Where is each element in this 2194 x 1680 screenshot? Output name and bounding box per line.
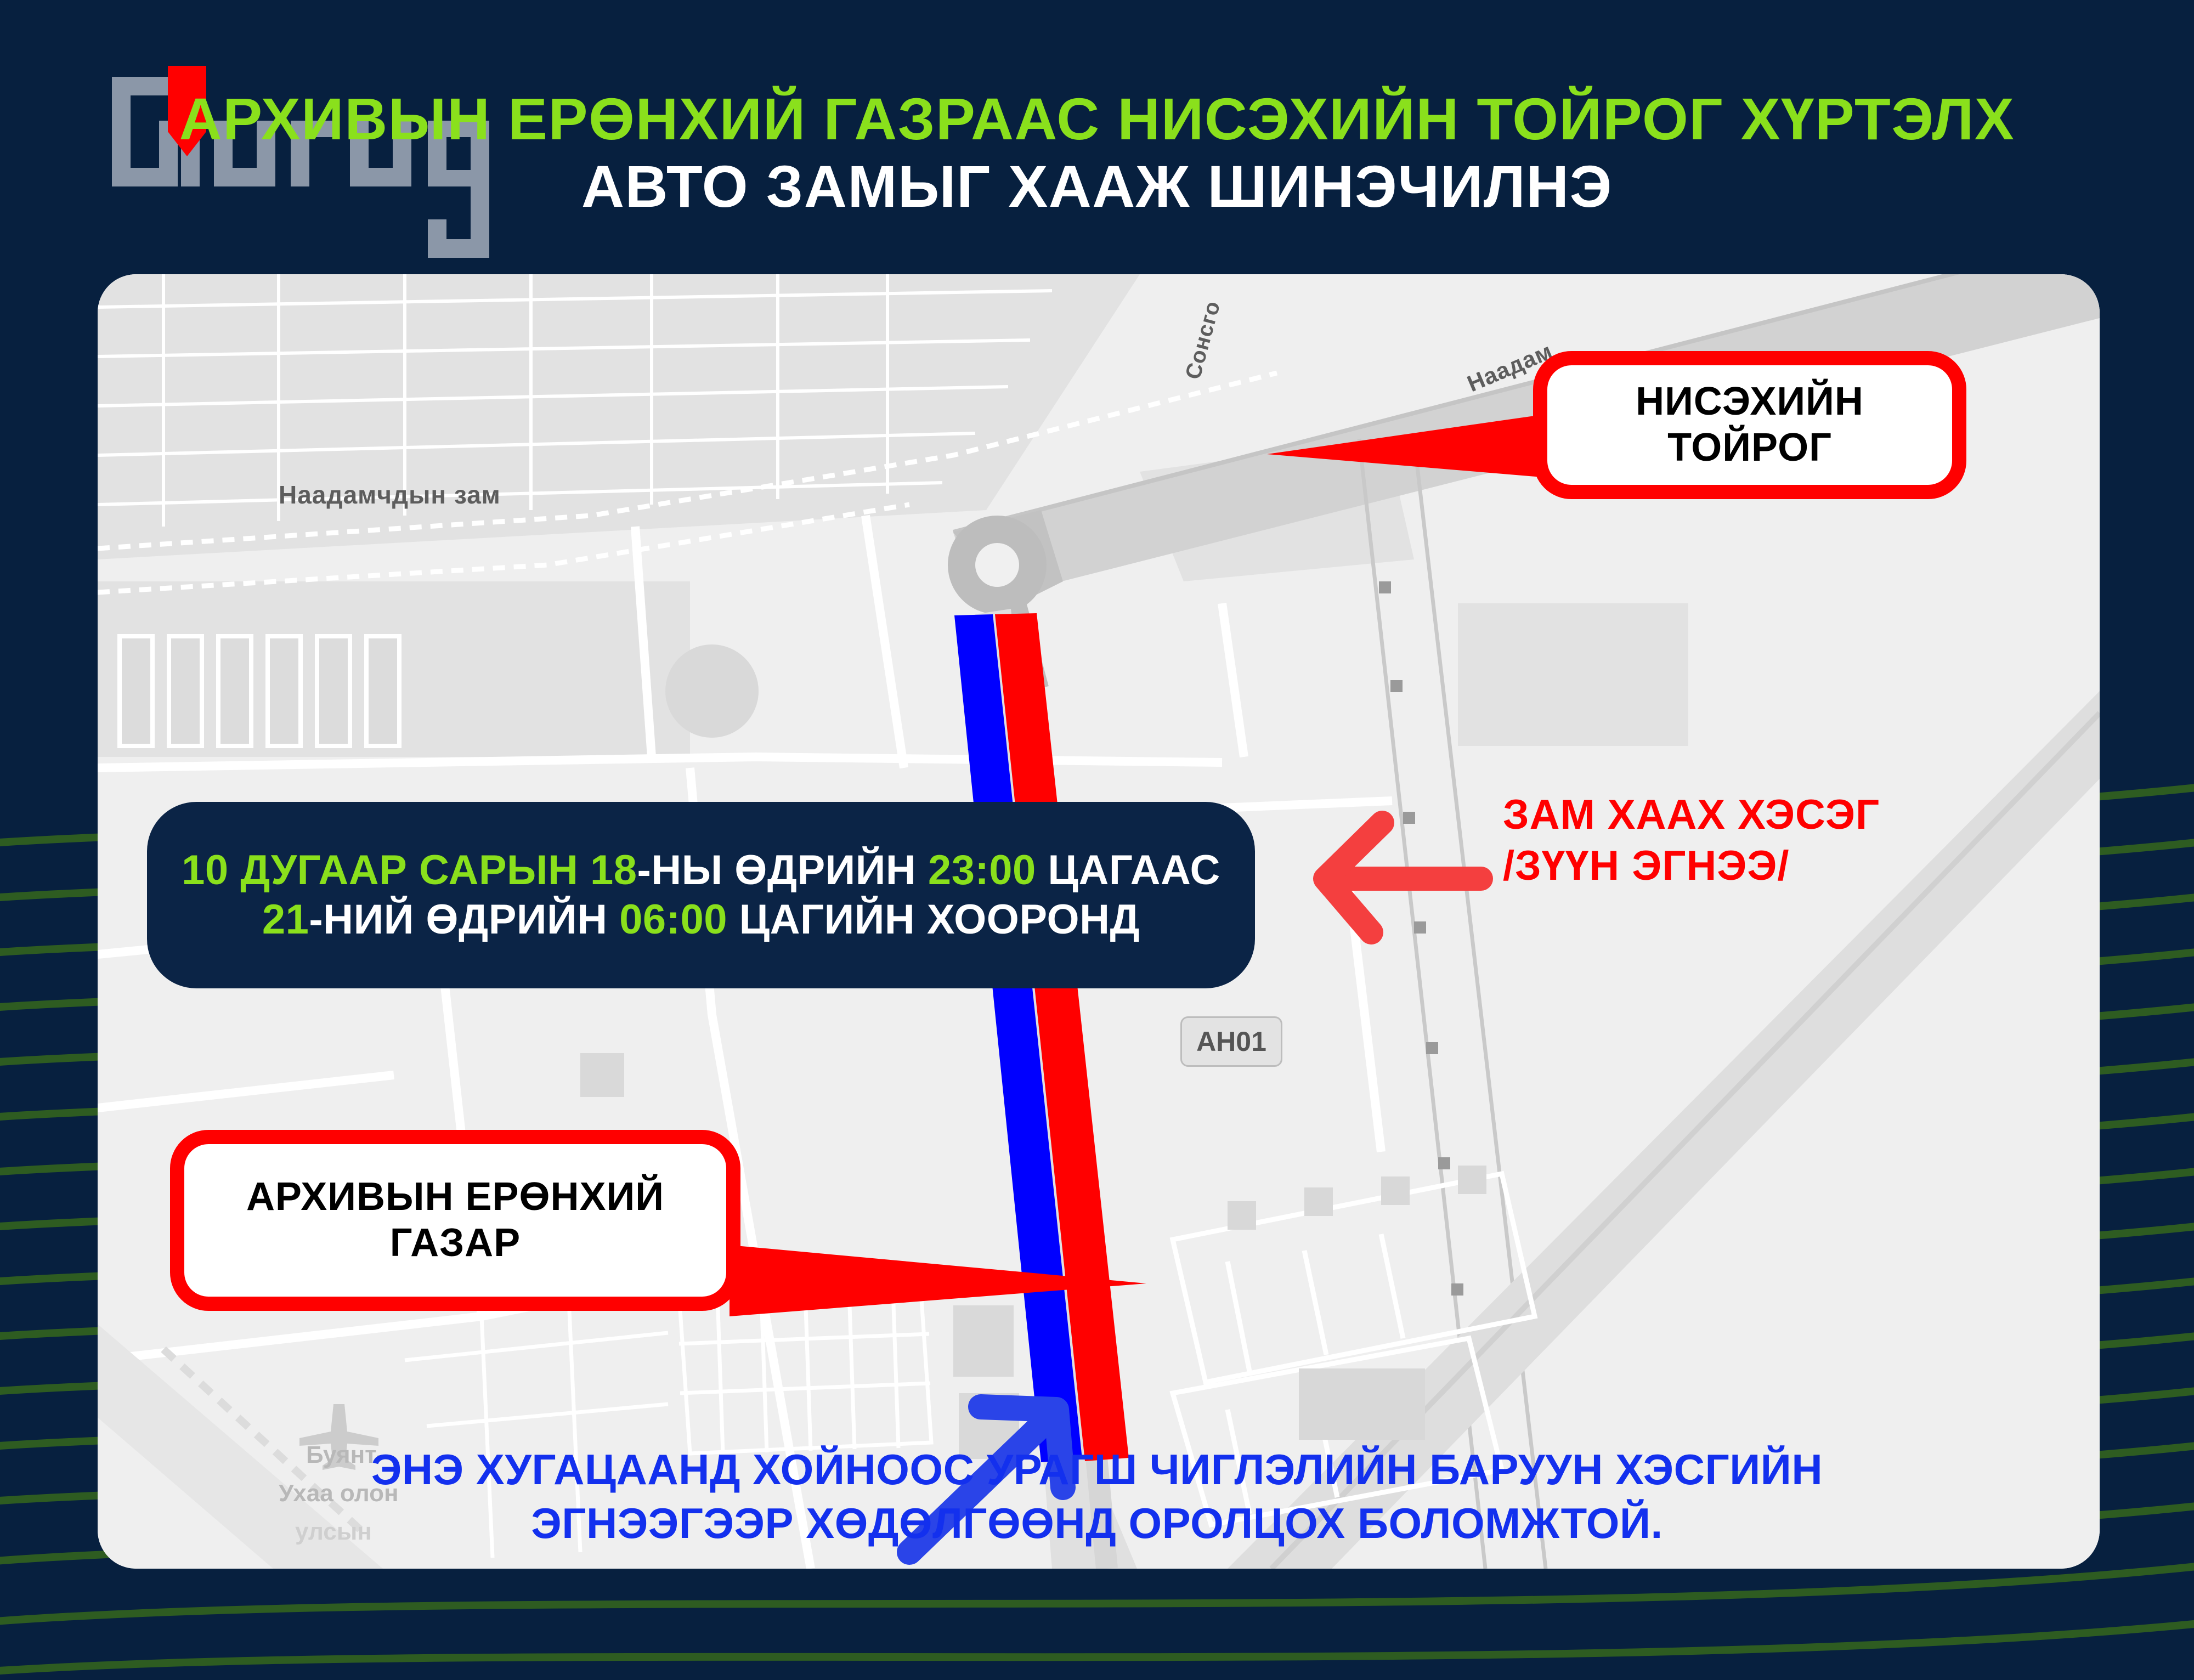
- callout-nisekhiin-line2: ТОЙРОГ: [1667, 425, 1832, 471]
- closure-schedule-line2: 21-НИЙ ӨДРИЙН 06:00 ЦАГИЙН ХООРОНД: [262, 895, 1140, 944]
- header: АРХИВЫН ЕРӨНХИЙ ГАЗРААС НИСЭХИЙН ТОЙРОГ …: [0, 88, 2194, 223]
- road-shield-badge: AH01: [1180, 1016, 1282, 1067]
- closed-section-line2: /ЗҮҮН ЭГНЭЭ/: [1503, 841, 1880, 892]
- callout-arkhiv-line2: ГАЗАР: [390, 1220, 521, 1266]
- page-title-line2: АВТО ЗАМЫГ ХААЖ ШИНЭЧИЛНЭ: [0, 150, 2194, 223]
- schedule-line2-text-a: -НИЙ ӨДРИЙН: [309, 896, 619, 943]
- closed-section-label: ЗАМ ХААХ ХЭСЭГ /ЗҮҮН ЭГНЭЭ/: [1503, 790, 1880, 891]
- schedule-end-date: 21: [262, 896, 309, 943]
- schedule-start-date: 10 ДУГААР САРЫН 18: [182, 847, 637, 893]
- schedule-start-time: 23:00: [928, 847, 1036, 893]
- detour-note-line2: ЭГНЭЭГЭЭР ХӨДӨЛГӨӨНД ОРОЛЦОХ БОЛОМЖТОЙ.: [0, 1496, 2194, 1550]
- schedule-end-time: 06:00: [619, 896, 727, 943]
- schedule-line2-text-b: ЦАГИЙН ХООРОНД: [727, 896, 1140, 943]
- infographic-root: АРХИВЫН ЕРӨНХИЙ ГАЗРААС НИСЭХИЙН ТОЙРОГ …: [0, 0, 2194, 1680]
- detour-note: ЭНЭ ХУГАЦААНД ХОЙНООС УРАГШ ЧИГЛЭЛИЙН БА…: [0, 1443, 2194, 1551]
- page-title-line1: АРХИВЫН ЕРӨНХИЙ ГАЗРААС НИСЭХИЙН ТОЙРОГ …: [0, 88, 2194, 150]
- detour-note-line1: ЭНЭ ХУГАЦААНД ХОЙНООС УРАГШ ЧИГЛЭЛИЙН БА…: [0, 1443, 2194, 1496]
- closure-schedule-line1: 10 ДУГААР САРЫН 18-НЫ ӨДРИЙН 23:00 ЦАГАА…: [182, 846, 1220, 895]
- schedule-line1-text-b: ЦАГААС: [1036, 847, 1220, 893]
- schedule-line1-text-a: -НЫ ӨДРИЙН: [637, 847, 928, 893]
- closed-section-line1: ЗАМ ХААХ ХЭСЭГ: [1503, 790, 1880, 841]
- closure-schedule-box: 10 ДУГААР САРЫН 18-НЫ ӨДРИЙН 23:00 ЦАГАА…: [147, 802, 1255, 988]
- callout-arkhivyn-erunkhii-gazar[interactable]: АРХИВЫН ЕРӨНХИЙ ГАЗАР: [170, 1130, 740, 1311]
- callout-arkhiv-line1: АРХИВЫН ЕРӨНХИЙ: [246, 1174, 664, 1220]
- callout-nisekhiin-line1: НИСЭХИЙН: [1636, 379, 1864, 425]
- callout-nisekhiin-toirog[interactable]: НИСЭХИЙН ТОЙРОГ: [1533, 351, 1966, 499]
